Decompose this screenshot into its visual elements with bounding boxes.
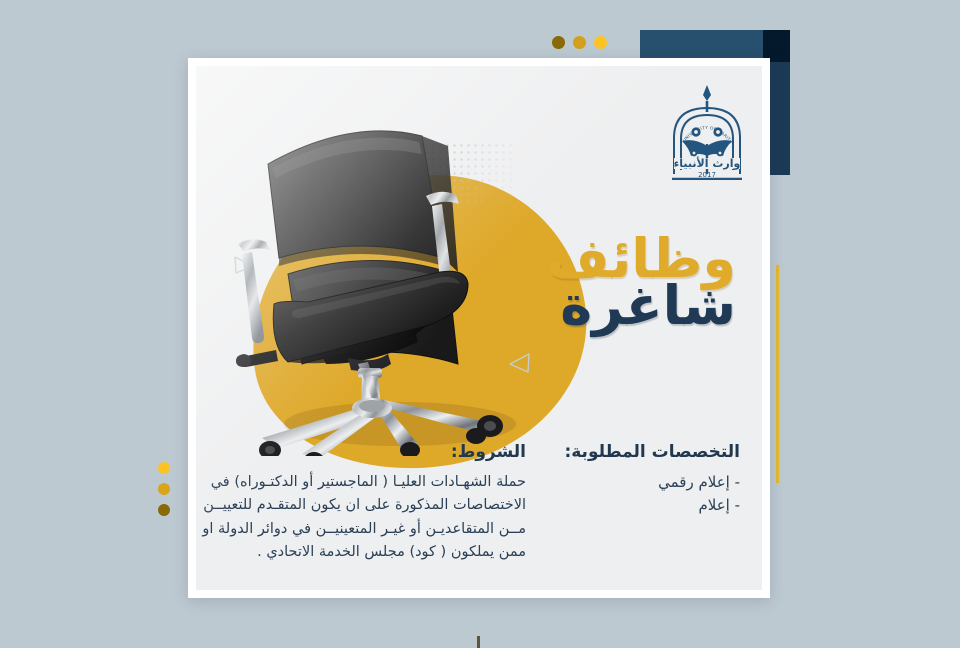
dot-decoration [573,36,586,49]
left-dot-column [158,462,170,516]
svg-text:وارث الأنبياء: وارث الأنبياء [674,156,741,170]
bottom-tick-mark [477,636,480,648]
gold-vertical-rule [776,265,779,483]
dot-decoration [552,36,565,49]
poster-card-inner: UNIVERSITY OF WARITH AL-ANBIYAA [196,66,762,590]
specializations-block: التخصصات المطلوبة: - إعلام رقمي - إعلام [490,442,740,518]
specializations-title: التخصصات المطلوبة: [490,442,740,462]
specialization-item: - إعلام رقمي [490,471,740,494]
dot-decoration [158,462,170,474]
dot-decoration [158,483,170,495]
poster-canvas: UNIVERSITY OF WARITH AL-ANBIYAA [0,0,960,648]
poster-card: UNIVERSITY OF WARITH AL-ANBIYAA [188,58,770,598]
svg-text:UNIVERSITY OF WARITH AL-ANBIYA: UNIVERSITY OF WARITH AL-ANBIYAA [665,82,734,144]
dot-decoration [158,504,170,516]
dot-decoration [594,36,607,49]
top-dot-row [552,36,607,49]
conditions-title: الشروط: [196,442,526,462]
specialization-item: - إعلام [490,494,740,517]
conditions-body: حملة الشهـادات العليـا ( الماجستير أو ال… [196,471,526,565]
poster-headline: وظائف شاغرة [376,234,736,332]
university-logo: UNIVERSITY OF WARITH AL-ANBIYAA [665,82,749,180]
conditions-block: الشروط: حملة الشهـادات العليـا ( الماجست… [196,442,526,565]
